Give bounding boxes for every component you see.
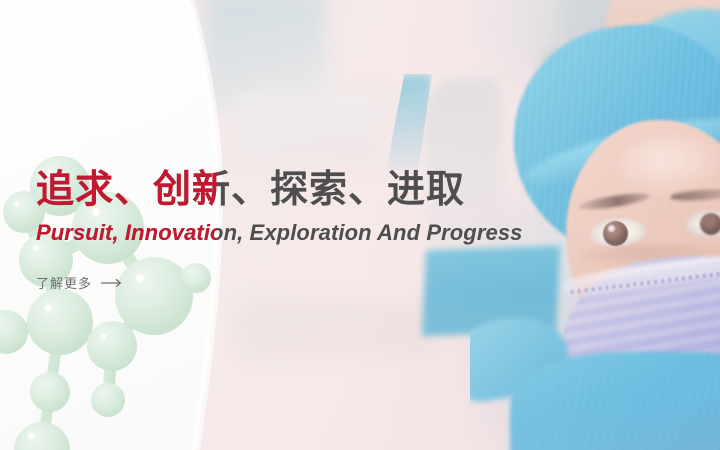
hero-copy: 追求、创新、探索、进取 追求、创新、探索、进取 Pursuit, Innovat… <box>36 168 696 293</box>
arrow-right-icon <box>101 278 123 288</box>
hero-banner: 追求、创新、探索、进取 追求、创新、探索、进取 Pursuit, Innovat… <box>0 0 720 450</box>
learn-more-label: 了解更多 <box>36 273 92 292</box>
learn-more-link[interactable]: 了解更多 <box>36 273 123 292</box>
headline-wrapper: 追求、创新、探索、进取 追求、创新、探索、进取 <box>36 168 696 213</box>
subheadline-wrapper: Pursuit, Innovation, Exploration And Pro… <box>36 219 696 248</box>
